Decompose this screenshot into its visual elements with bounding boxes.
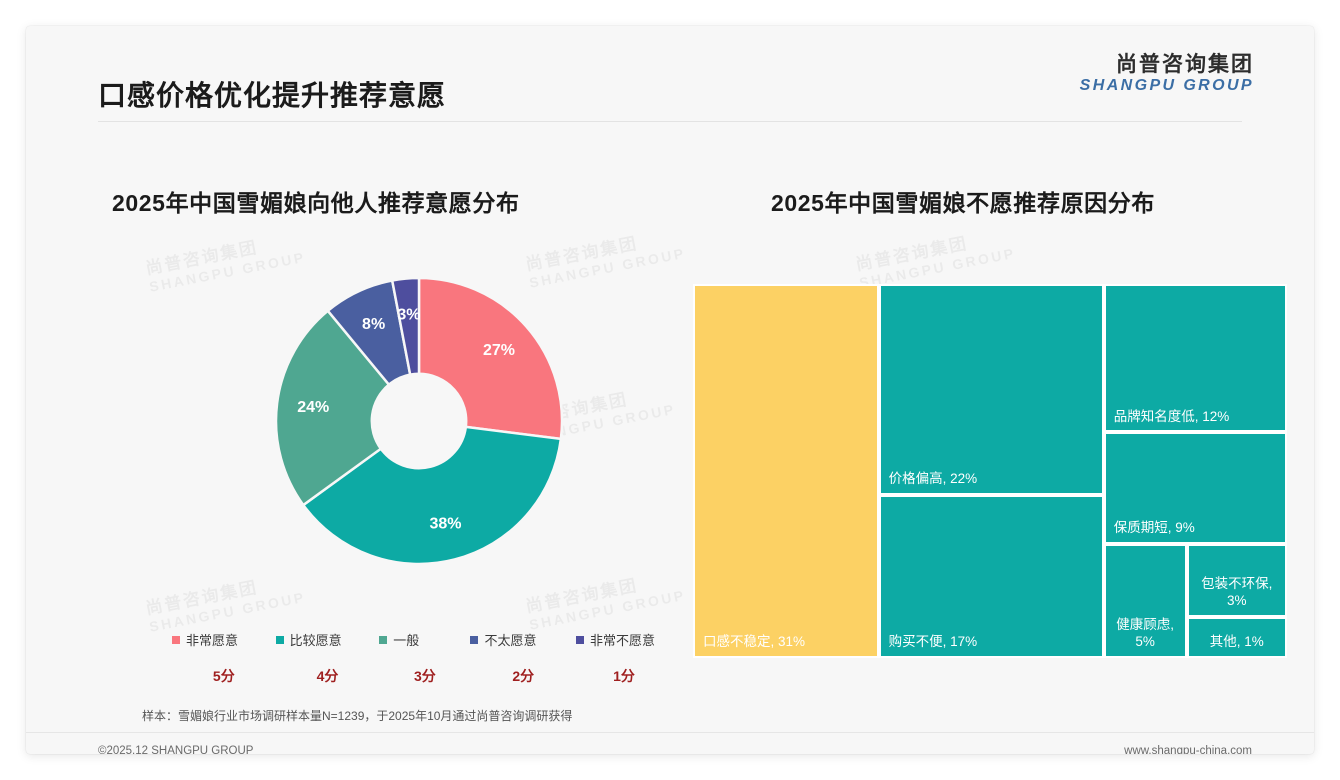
- legend-label: 非常愿意: [186, 630, 238, 649]
- legend-item[interactable]: 非常愿意: [172, 630, 276, 649]
- score-scale-row: 5分4分3分2分1分: [172, 666, 672, 686]
- treemap-cell-label: 购买不便, 17%: [889, 634, 1096, 651]
- treemap-cell-label: 保质期短, 9%: [1114, 520, 1279, 537]
- page-title: 口感价格优化提升推荐意愿: [98, 74, 446, 114]
- watermark-en: SHANGPU GROUP: [528, 586, 687, 632]
- watermark: 尚普咨询集团 SHANGPU GROUP: [854, 225, 1017, 290]
- treemap-cell-label: 包装不环保, 3%: [1193, 576, 1281, 610]
- treemap-cell-label: 口感不稳定, 31%: [703, 634, 871, 651]
- treemap-cell[interactable]: 健康顾虑, 5%: [1104, 544, 1187, 658]
- score-label: 5分: [172, 666, 276, 686]
- treemap-cell[interactable]: 购买不便, 17%: [879, 495, 1104, 658]
- legend-label: 比较愿意: [290, 630, 342, 649]
- watermark: 尚普咨询集团 SHANGPU GROUP: [524, 567, 687, 632]
- treemap-cell[interactable]: 品牌知名度低, 12%: [1104, 284, 1287, 432]
- footer-website: www.shangpu-china.com: [1124, 745, 1252, 754]
- treemap-cell[interactable]: 保质期短, 9%: [1104, 432, 1287, 543]
- watermark-cn: 尚普咨询集团: [854, 225, 1014, 275]
- legend-swatch-icon: [576, 636, 584, 644]
- slide-card: 尚普咨询集团 SHANGPU GROUP 尚普咨询集团 SHANGPU GROU…: [26, 26, 1314, 754]
- score-label: 3分: [379, 666, 470, 686]
- donut-chart-svg: 27%38%24%8%3%: [269, 271, 569, 571]
- brand-logo-en: SHANGPU GROUP: [1080, 78, 1254, 95]
- legend-item[interactable]: 不太愿意: [470, 630, 576, 649]
- footer-divider: [26, 732, 1314, 733]
- score-label: 4分: [276, 666, 380, 686]
- brand-logo: 尚普咨询集团 SHANGPU GROUP: [1080, 54, 1254, 95]
- treemap-cell[interactable]: 其他, 1%: [1187, 617, 1287, 658]
- donut-slice-label: 27%: [483, 342, 515, 359]
- donut-slice-label: 3%: [397, 306, 420, 323]
- legend-label: 非常不愿意: [590, 630, 655, 649]
- legend-item[interactable]: 一般: [379, 630, 470, 649]
- slide-header: 口感价格优化提升推荐意愿 尚普咨询集团 SHANGPU GROUP: [26, 26, 1314, 122]
- treemap-cell[interactable]: 包装不环保, 3%: [1187, 544, 1287, 617]
- right-chart-title: 2025年中国雪媚娘不愿推荐原因分布: [771, 184, 1155, 218]
- donut-chart: 27%38%24%8%3%: [269, 271, 569, 571]
- left-chart-title: 2025年中国雪媚娘向他人推荐意愿分布: [112, 184, 520, 218]
- legend-item[interactable]: 非常不愿意: [576, 630, 672, 649]
- treemap-cell-label: 健康顾虑, 5%: [1110, 617, 1181, 651]
- score-label: 1分: [576, 666, 672, 686]
- watermark: 尚普咨询集团 SHANGPU GROUP: [144, 569, 307, 634]
- screenshot-canvas: 尚普咨询集团 SHANGPU GROUP 尚普咨询集团 SHANGPU GROU…: [0, 0, 1340, 780]
- score-label: 2分: [470, 666, 576, 686]
- brand-logo-cn: 尚普咨询集团: [1080, 54, 1254, 76]
- legend-swatch-icon: [379, 636, 387, 644]
- donut-legend: 非常愿意比较愿意一般不太愿意非常不愿意: [172, 630, 672, 649]
- donut-slice-label: 24%: [297, 399, 329, 416]
- legend-swatch-icon: [172, 636, 180, 644]
- treemap-cell-label: 品牌知名度低, 12%: [1114, 409, 1279, 426]
- legend-label: 一般: [393, 630, 419, 649]
- legend-swatch-icon: [276, 636, 284, 644]
- source-footnote: 样本：雪媚娘行业市场调研样本量N=1239，于2025年10月通过尚普咨询调研获…: [142, 707, 572, 724]
- treemap-cell-label: 价格偏高, 22%: [889, 471, 1096, 488]
- watermark-cn: 尚普咨询集团: [524, 567, 684, 617]
- watermark-en: SHANGPU GROUP: [148, 588, 307, 634]
- watermark-cn: 尚普咨询集团: [144, 569, 304, 619]
- legend-swatch-icon: [470, 636, 478, 644]
- legend-item[interactable]: 比较愿意: [276, 630, 380, 649]
- treemap-cell[interactable]: 价格偏高, 22%: [879, 284, 1104, 495]
- treemap-cell[interactable]: 口感不稳定, 31%: [693, 284, 879, 658]
- treemap-chart: 口感不稳定, 31%价格偏高, 22%购买不便, 17%品牌知名度低, 12%保…: [693, 284, 1287, 658]
- donut-slice-label: 8%: [362, 316, 385, 333]
- donut-slice-label: 38%: [429, 516, 461, 533]
- header-divider: [98, 121, 1242, 122]
- treemap-cell-label: 其他, 1%: [1193, 634, 1281, 651]
- legend-label: 不太愿意: [484, 630, 536, 649]
- footer-copyright: ©2025.12 SHANGPU GROUP: [98, 745, 253, 754]
- watermark-cn: 尚普咨询集团: [524, 225, 684, 275]
